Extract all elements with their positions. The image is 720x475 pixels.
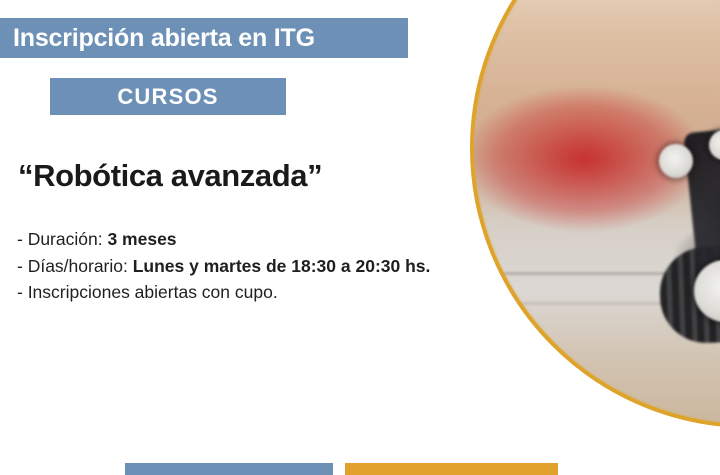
flyer-canvas: Inscripción abierta en ITG CURSOS “Robót…	[0, 0, 720, 475]
detail-schedule-label: - Días/horario:	[17, 256, 133, 276]
course-title: “Robótica avanzada”	[18, 158, 322, 194]
footer-strip-blue[interactable]	[125, 463, 333, 475]
course-details-list: - Duración: 3 meses - Días/horario: Lune…	[17, 226, 437, 306]
section-label-text: CURSOS	[117, 84, 218, 110]
detail-enrollment-text: - Inscripciones abiertas con cupo.	[17, 282, 278, 302]
headline-banner: Inscripción abierta en ITG	[0, 18, 408, 58]
photo-blur-overlay	[474, 0, 720, 424]
headline-text: Inscripción abierta en ITG	[0, 24, 315, 53]
robot-sensor-icon	[659, 144, 693, 178]
footer-strip-orange[interactable]	[345, 463, 558, 475]
detail-line-enrollment: - Inscripciones abiertas con cupo.	[17, 279, 437, 306]
detail-duration-label: - Duración:	[17, 229, 107, 249]
course-photo-circle	[470, 0, 720, 428]
detail-line-schedule: - Días/horario: Lunes y martes de 18:30 …	[17, 253, 437, 280]
detail-duration-value: 3 meses	[107, 229, 176, 249]
course-photo-image	[474, 0, 720, 424]
detail-schedule-value: Lunes y martes de 18:30 a 20:30 hs.	[133, 256, 431, 276]
section-label-banner: CURSOS	[50, 78, 286, 115]
detail-line-duration: - Duración: 3 meses	[17, 226, 437, 253]
